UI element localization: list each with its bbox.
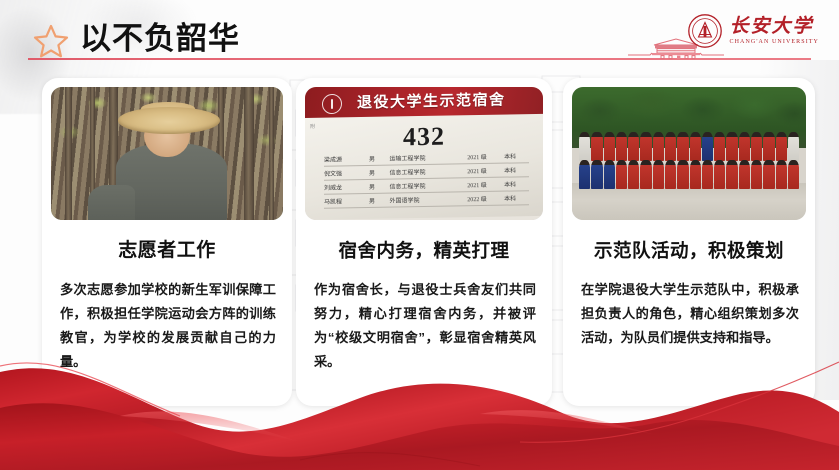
cell-degree: 本科 xyxy=(504,151,529,160)
cell-sex: 男 xyxy=(369,195,389,204)
cell-college: 外国语学院 xyxy=(390,194,468,204)
cell-sex: 男 xyxy=(369,167,389,176)
cards-row: 志愿者工作 多次志愿参加学校的新生军训保障工作，积极担任学院运动会方阵的训练教官… xyxy=(0,78,839,408)
cell-college: 信息工程学院 xyxy=(390,180,468,190)
cell-year: 2022 级 xyxy=(467,193,504,203)
card-heading: 示范队活动，积极策划 xyxy=(575,238,803,264)
content-card-team[interactable]: 示范队活动，积极策划 在学院退役大学生示范队中，积极承担负责人的角色，精心组织策… xyxy=(563,78,815,406)
cell-degree: 本科 xyxy=(504,165,529,174)
cell-sex: 男 xyxy=(369,181,389,190)
cell-name: 刘威龙 xyxy=(324,182,369,192)
slide-header: 以不负韶华 xyxy=(0,0,839,70)
card-body-text: 在学院退役大学生示范队中，积极承担负责人的角色，精心组织策划多次活动，为队员们提… xyxy=(581,278,799,350)
content-card-volunteer[interactable]: 志愿者工作 多次志愿参加学校的新生军训保障工作，积极担任学院运动会方阵的训练教官… xyxy=(42,78,292,406)
cell-college: 信息工程学院 xyxy=(390,166,468,176)
plaque-resident-table: 梁成源 男 运输工程学院 2021 级 本科 倪文强 男 信息工程学院 2021… xyxy=(324,149,529,209)
page-title: 以不负韶华 xyxy=(80,20,240,58)
cell-degree: 本科 xyxy=(504,193,529,202)
slide-canvas: 以不负韶华 xyxy=(0,0,839,470)
plaque-banner-title: 退役大学生示范宿舍 xyxy=(357,89,506,114)
university-seal-icon xyxy=(687,13,723,49)
university-name-cn: 长安大学 xyxy=(730,16,819,38)
card-heading: 宿舍内务，精英打理 xyxy=(308,238,540,264)
star-outline-icon xyxy=(33,24,69,58)
photo-volunteer-straw-hat xyxy=(51,87,283,220)
university-name-en: CHANG'AN UNIVERSITY xyxy=(730,38,819,47)
cell-degree: 本科 xyxy=(504,179,529,188)
university-name-block: 长安大学 CHANG'AN UNIVERSITY xyxy=(730,16,819,47)
photo-demonstration-team-group xyxy=(572,87,806,220)
cell-sex: 男 xyxy=(369,153,389,162)
photo-dormitory-plaque: 退役大学生示范宿舍 附 432 梁成源 男 运输工程学院 2021 级 本科 xyxy=(305,87,543,220)
card-body-text: 多次志愿参加学校的新生军训保障工作，积极担任学院运动会方阵的训练教官，为学校的发… xyxy=(60,278,276,374)
university-brand: 长安大学 CHANG'AN UNIVERSITY xyxy=(687,10,819,52)
cell-name: 马凯程 xyxy=(324,196,369,206)
cell-college: 运输工程学院 xyxy=(390,152,468,162)
cell-year: 2021 级 xyxy=(467,151,504,161)
card-body-text: 作为宿舍长，与退役士兵舍友们共同努力，精心打理宿舍内务，并被评为“校级文明宿舍”… xyxy=(314,278,536,374)
cell-year: 2021 级 xyxy=(467,179,504,189)
plaque-room-number: 432 xyxy=(305,120,543,154)
cell-name: 倪文强 xyxy=(324,168,369,178)
cell-name: 梁成源 xyxy=(324,154,369,164)
cell-year: 2021 级 xyxy=(467,165,504,175)
content-card-dormitory[interactable]: 退役大学生示范宿舍 附 432 梁成源 男 运输工程学院 2021 级 本科 xyxy=(296,78,552,406)
card-heading: 志愿者工作 xyxy=(54,238,280,264)
